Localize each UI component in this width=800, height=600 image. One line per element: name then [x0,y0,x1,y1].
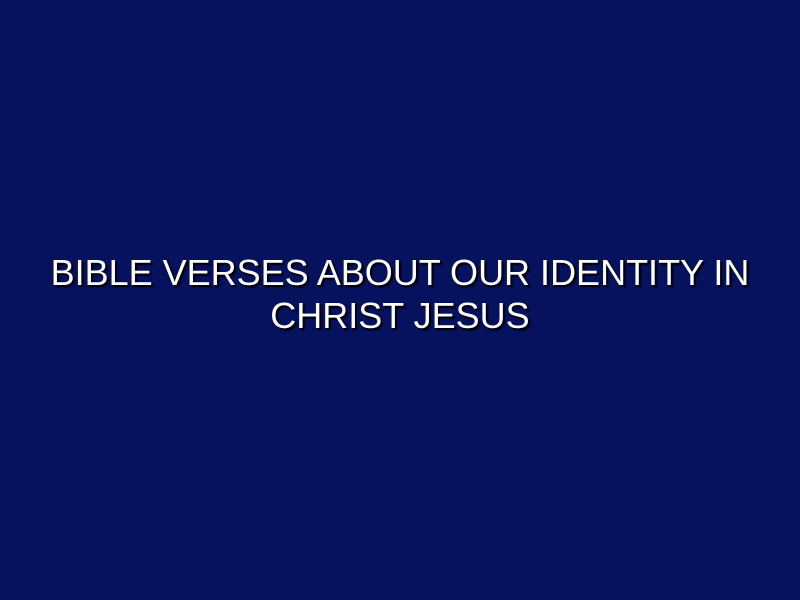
page-title: BIBLE VERSES ABOUT OUR IDENTITY IN CHRIS… [50,251,750,337]
slide-canvas: BIBLE VERSES ABOUT OUR IDENTITY IN CHRIS… [0,0,800,600]
title-block: BIBLE VERSES ABOUT OUR IDENTITY IN CHRIS… [50,251,750,337]
